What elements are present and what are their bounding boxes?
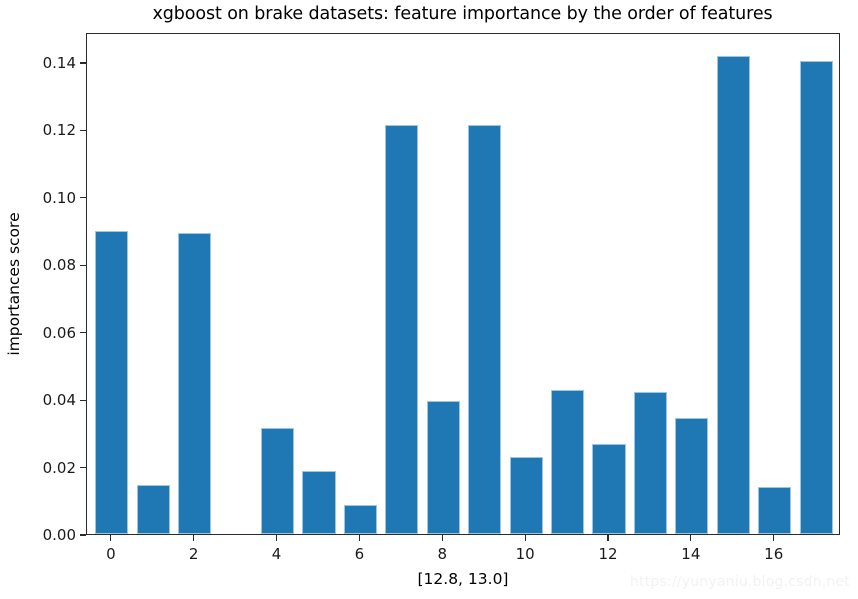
x-tick-label: 12 <box>598 545 617 563</box>
x-tick-mark <box>525 535 526 541</box>
x-tick-mark <box>442 535 443 541</box>
bar-17[interactable] <box>800 61 833 534</box>
x-tick-label: 2 <box>189 545 199 563</box>
bar-4[interactable] <box>261 428 294 534</box>
bar-16[interactable] <box>758 487 791 534</box>
x-tick-label: 14 <box>681 545 700 563</box>
watermark-text: https://yunyaniu.blog.csdn.net <box>630 574 850 590</box>
bar-7[interactable] <box>385 125 418 534</box>
x-tick-mark <box>276 535 277 541</box>
bar-9[interactable] <box>468 125 501 534</box>
y-tick-label: 0.00 <box>43 526 76 544</box>
bar-15[interactable] <box>717 56 750 534</box>
y-tick-label: 0.08 <box>43 256 76 274</box>
bar-2[interactable] <box>178 233 211 534</box>
x-tick-mark <box>690 535 691 541</box>
x-tick-mark <box>110 535 111 541</box>
x-tick-mark <box>607 535 608 541</box>
y-tick-label: 0.02 <box>43 459 76 477</box>
chart-figure: xgboost on brake datasets: feature impor… <box>0 0 858 599</box>
plot-area <box>86 33 840 535</box>
bar-6[interactable] <box>344 505 377 534</box>
bar-8[interactable] <box>427 401 460 534</box>
bar-11[interactable] <box>551 390 584 534</box>
x-tick-label: 6 <box>355 545 365 563</box>
bar-14[interactable] <box>675 418 708 534</box>
y-tick-label: 0.10 <box>43 189 76 207</box>
bar-0[interactable] <box>95 231 128 534</box>
y-tick-label: 0.04 <box>43 391 76 409</box>
bar-1[interactable] <box>137 485 170 534</box>
x-tick-label: 0 <box>106 545 116 563</box>
bar-10[interactable] <box>510 457 543 534</box>
x-tick-label: 8 <box>438 545 448 563</box>
y-tick-label: 0.12 <box>43 121 76 139</box>
bar-5[interactable] <box>302 471 335 534</box>
x-tick-mark <box>193 535 194 541</box>
bar-13[interactable] <box>634 392 667 534</box>
x-tick-label: 4 <box>272 545 282 563</box>
y-axis-title: importances score <box>5 212 23 355</box>
x-tick-label: 10 <box>516 545 535 563</box>
y-tick-label: 0.14 <box>43 54 76 72</box>
x-tick-label: 16 <box>764 545 783 563</box>
x-tick-mark <box>773 535 774 541</box>
bar-series <box>87 34 839 534</box>
chart-title: xgboost on brake datasets: feature impor… <box>85 4 840 24</box>
x-tick-mark <box>359 535 360 541</box>
y-tick-label: 0.06 <box>43 324 76 342</box>
bar-12[interactable] <box>592 444 625 534</box>
